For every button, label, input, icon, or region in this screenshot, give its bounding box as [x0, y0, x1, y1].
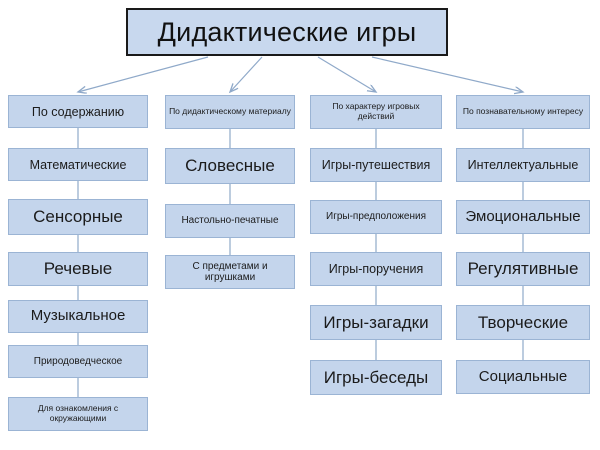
node-box: Творческие	[456, 305, 590, 340]
arrow-to-column-4	[372, 57, 523, 92]
node-label: Настольно-печатные	[181, 215, 278, 226]
node-label: Для ознакомления с окружающими	[12, 404, 144, 423]
node-label: Природоведческое	[34, 356, 122, 367]
node-label: Социальные	[479, 369, 567, 386]
node-box: Сенсорные	[8, 199, 148, 235]
arrow-to-column-2	[230, 57, 262, 92]
node-label: Эмоциональные	[465, 209, 580, 226]
node-label: Игры-поручения	[329, 262, 424, 276]
column-header-po-soderzhaniyu: По содержанию	[8, 95, 148, 128]
node-label: Музыкальное	[31, 308, 126, 325]
column-header-po-poznavatelnomu-interesu: По познавательному интересу	[456, 95, 590, 129]
node-label: По характеру игровых действий	[314, 102, 438, 121]
column-header-po-didakticheskomu-materialu: По дидактическому материалу	[165, 95, 295, 129]
node-label: Речевые	[44, 259, 113, 278]
node-label: Игры-беседы	[324, 368, 428, 387]
node-label: Сенсорные	[33, 207, 123, 226]
node-box: Игры-предположения	[310, 200, 442, 234]
arrow-to-column-1	[78, 57, 208, 92]
node-box: Игры-загадки	[310, 305, 442, 340]
node-label: По содержанию	[32, 105, 124, 119]
node-label: Математические	[30, 158, 127, 172]
node-label: Игры-путешествия	[322, 158, 431, 172]
node-box: Эмоциональные	[456, 200, 590, 234]
node-box: Для ознакомления с окружающими	[8, 397, 148, 431]
node-box: Музыкальное	[8, 300, 148, 333]
node-label: С предметами и игрушками	[169, 261, 291, 283]
node-box: С предметами и игрушками	[165, 255, 295, 289]
node-box: Игры-путешествия	[310, 148, 442, 182]
node-box: Регулятивные	[456, 252, 590, 286]
node-label: Творческие	[478, 313, 568, 332]
node-box: Интеллектуальные	[456, 148, 590, 182]
node-label: По дидактическому материалу	[169, 107, 291, 117]
arrow-to-column-3	[318, 57, 376, 92]
diagram-canvas: Дидактические игры По содержаниюМатемати…	[0, 0, 600, 450]
node-box: Игры-поручения	[310, 252, 442, 286]
node-label: Игры-загадки	[323, 313, 428, 332]
node-box: Словесные	[165, 148, 295, 184]
node-label: Игры-предположения	[326, 211, 426, 222]
column-header-po-kharakteru-igrovykh-deystviy: По характеру игровых действий	[310, 95, 442, 129]
diagram-title-label: Дидактические игры	[158, 17, 417, 48]
node-box: Природоведческое	[8, 345, 148, 378]
node-label: Интеллектуальные	[468, 158, 579, 172]
diagram-title-box: Дидактические игры	[126, 8, 448, 56]
node-box: Социальные	[456, 360, 590, 394]
node-box: Настольно-печатные	[165, 204, 295, 238]
node-label: Словесные	[185, 156, 275, 175]
node-box: Игры-беседы	[310, 360, 442, 395]
node-box: Математические	[8, 148, 148, 181]
node-box: Речевые	[8, 252, 148, 286]
node-label: По познавательному интересу	[463, 107, 583, 117]
node-label: Регулятивные	[468, 259, 579, 278]
